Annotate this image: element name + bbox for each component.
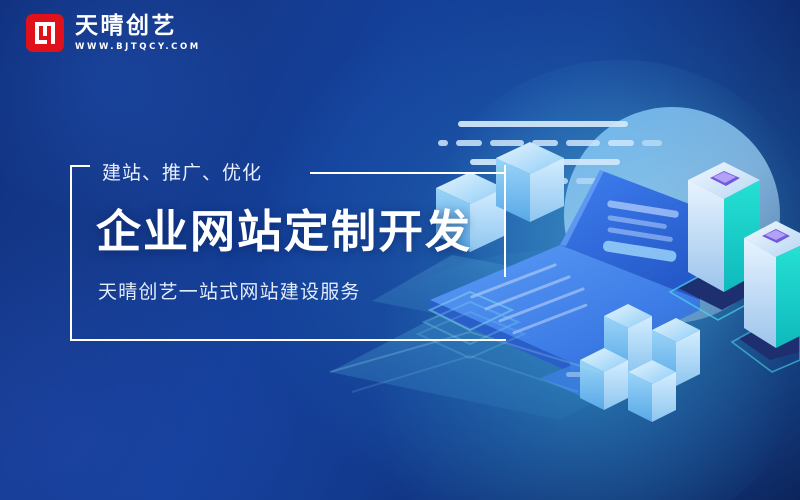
promo-banner: 天晴创艺 WWW.BJTQCY.COM 建站、推广、优化 企业网站定制开发 天晴… xyxy=(0,0,800,500)
frame-bottom-rule xyxy=(70,339,506,341)
brand-url: WWW.BJTQCY.COM xyxy=(75,42,201,52)
frame-top-rule xyxy=(310,172,506,174)
brand-name-cn: 天晴创艺 xyxy=(75,14,201,38)
subtitle-text: 天晴创艺一站式网站建设服务 xyxy=(98,277,361,304)
frame-top-stub xyxy=(70,165,90,167)
page-title: 企业网站定制开发 xyxy=(96,195,472,260)
frame-left-rule xyxy=(70,165,72,341)
brand-logo[interactable]: 天晴创艺 WWW.BJTQCY.COM xyxy=(26,14,201,52)
tianqing-square-logo-icon xyxy=(26,14,64,52)
eyebrow-text: 建站、推广、优化 xyxy=(102,158,262,185)
logo-wordmark: 天晴创艺 WWW.BJTQCY.COM xyxy=(75,14,201,51)
headline-block: 建站、推广、优化 企业网站定制开发 天晴创艺一站式网站建设服务 xyxy=(70,165,510,343)
frame-right-rule xyxy=(504,165,506,277)
